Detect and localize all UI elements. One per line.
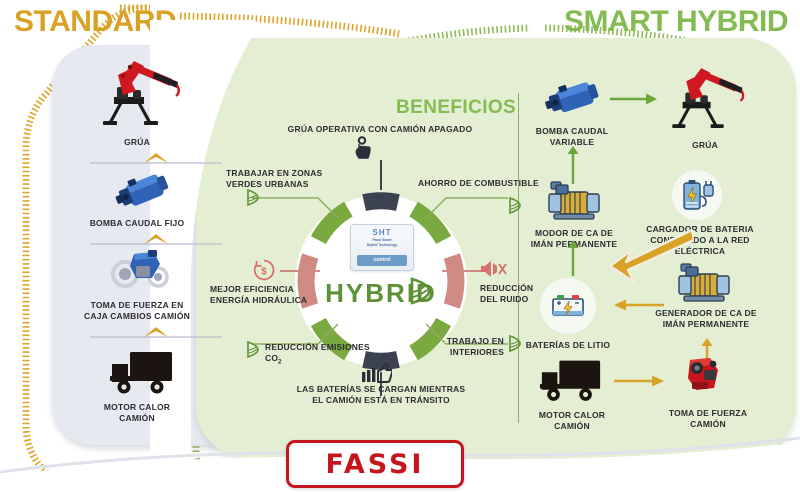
flow-label-variable-pump: BOMBA CAUDAL VARIABLE: [512, 126, 632, 148]
benefit-label-hydraulic-eff: MEJOR EFICIENCIA ENERGÍA HIDRÁULICA: [210, 284, 350, 306]
benefit-label-battery-transit: LAS BATERÍAS SE CARGAN MIENTRAS EL CAMIÓ…: [275, 384, 487, 406]
hydraulic-pump-icon: [542, 75, 604, 121]
leaf-icon: [246, 340, 260, 359]
standard-truck-line2: CAMIÓN: [119, 413, 155, 423]
standard-truck-line1: MOTOR CALOR: [104, 402, 170, 412]
flow-label-truck-pto: TOMA DE FUERZA CAMIÓN: [644, 408, 772, 430]
standard-pto-line2: CAJA CAMBIOS CAMIÓN: [84, 311, 190, 321]
arrow-right-icon: [614, 374, 666, 388]
mute-speaker-icon: [480, 259, 508, 279]
chevron-up-icon: [90, 233, 222, 247]
connector-hydraulic-eff: [280, 270, 320, 272]
leaf-icon: [508, 196, 522, 215]
benefit-label-crane-off: GRÚA OPERATIVA CON CAMIÓN APAGADO: [280, 124, 480, 135]
fassi-logo: FASSI: [286, 440, 464, 488]
connector-crane-off: [380, 160, 382, 190]
svg-text:$: $: [261, 267, 267, 278]
crane-icon: [662, 62, 748, 136]
connector-green-zones: [250, 192, 340, 220]
truck-icon: [108, 348, 176, 396]
connector-noise-reduction: [442, 270, 484, 272]
dollar-circle-icon: $: [252, 258, 276, 282]
hand-touch-icon: [349, 136, 375, 162]
fassi-wordmark: FASSI: [326, 449, 425, 480]
pto-gearbox-icon: [108, 248, 174, 294]
hydraulic-pump-icon: [112, 168, 174, 214]
battery-icon: [551, 289, 585, 323]
standard-item-label-crane: GRÚA: [72, 137, 202, 148]
standard-item-label-pto: TOMA DE FUERZA EN CAJA CAMBIOS CAMIÓN: [62, 300, 212, 322]
flow-label-lithium-batteries: BATERÍAS DE LITIO: [508, 340, 628, 351]
flow-label-crane: GRÚA: [650, 140, 760, 151]
flow-label-ac-generator: GENERADOR DE CA DE IMÁN PERMANENTE: [640, 308, 772, 330]
electric-motor-icon: [546, 180, 602, 224]
chevron-up-icon: [90, 326, 222, 340]
electric-generator-icon: [676, 262, 732, 306]
truck-icon: [538, 356, 604, 404]
benefit-label-co2: REDUCCIÓN EMISIONES CO2: [265, 342, 415, 369]
pto-icon: [682, 356, 728, 400]
title-smart-hybrid: SMART HYBRID: [564, 5, 788, 39]
standard-pto-line1: TOMA DE FUERZA EN: [91, 300, 184, 310]
leaf-icon: [246, 188, 260, 207]
crane-icon: [92, 55, 184, 133]
benefit-label-indoor-work: TRABAJO EN INTERIORES: [408, 336, 504, 358]
standard-item-label-pump: BOMBA CAUDAL FIJO: [72, 218, 202, 229]
arrow-right-icon: [610, 92, 658, 106]
standard-item-label-truck: MOTOR CALOR CAMIÓN: [72, 402, 202, 424]
battery-charger-icon: [681, 177, 717, 213]
arrow-up-icon: [566, 146, 580, 184]
arrow-up-icon: [566, 240, 580, 276]
infographic-root: STANDARD SMART HYBRID BENEFICIOS: [0, 0, 800, 492]
chevron-up-icon: [90, 152, 222, 166]
benefit-label-green-zones: TRABAJAR EN ZONAS VERDES URBANAS: [226, 168, 376, 190]
beneficios-heading: BENEFICIOS: [396, 97, 516, 119]
connector-fuel-saving: [424, 192, 510, 220]
